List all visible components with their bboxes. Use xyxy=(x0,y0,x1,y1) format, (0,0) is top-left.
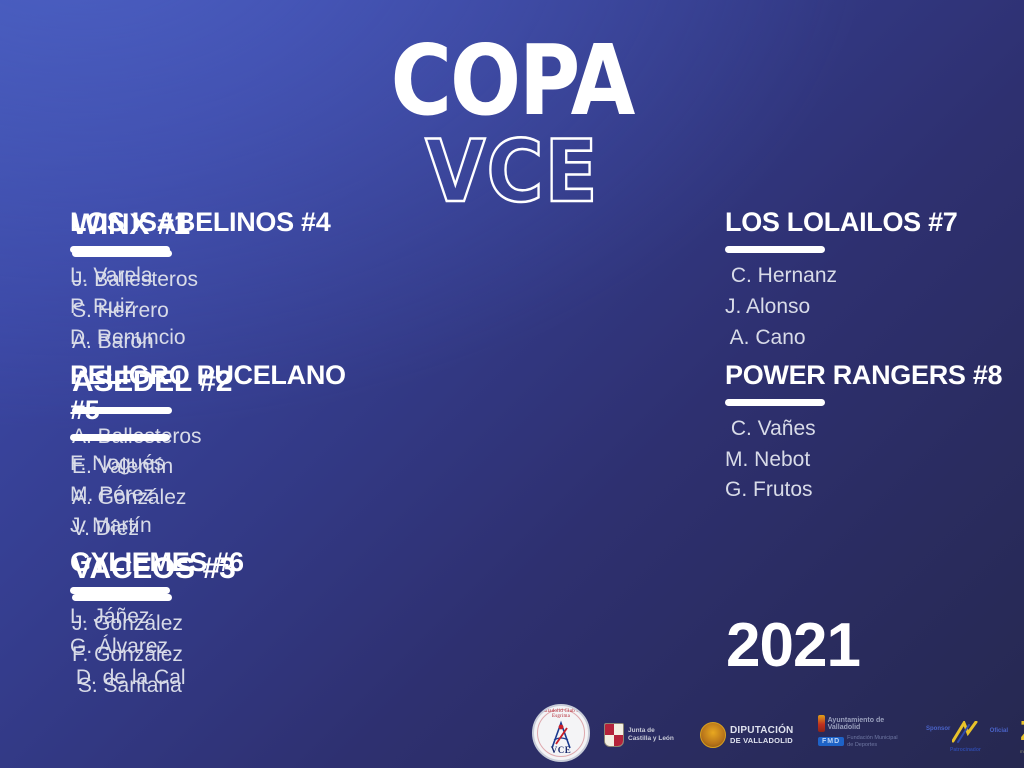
team-name: LOS ISABELINOS #4 xyxy=(70,205,370,240)
diputacion-line-1: DIPUTACIÓN xyxy=(730,725,793,736)
swoosh-icon xyxy=(952,721,978,743)
junta-castilla-leon-logo: Junta de Castilla y León xyxy=(604,715,690,755)
abstract-line-3: Patrocinador xyxy=(950,747,981,753)
team-underline-rule xyxy=(725,246,825,253)
torch-icon xyxy=(818,715,825,732)
sponsor-logo-strip: Valladolid Club de Esgrima VCE Junta de … xyxy=(532,702,1024,768)
player-name: L. Varela xyxy=(70,261,370,292)
page-title: COPA VCE xyxy=(0,34,1024,203)
player-name: G. Álvarez xyxy=(70,632,370,663)
diputacion-valladolid-logo: DIPUTACIÓN DE VALLADOLID xyxy=(700,715,808,755)
ayuntamiento-valladolid-logo: Ayuntamiento de Valladolid FMD Fundación… xyxy=(818,715,914,755)
abstract-line-1: Sponsor xyxy=(926,726,950,732)
player-name: C. Hernanz xyxy=(725,261,1015,292)
fmd-text: Fundación Municipal de Deportes xyxy=(847,735,897,748)
team-block: LOS LOLAILOS #7 C. Hernanz J. Alonso A. … xyxy=(725,205,1015,354)
player-name: D. Renuncio xyxy=(70,323,370,354)
player-name: G. Frutos xyxy=(725,475,1015,506)
title-word-copa: COPA xyxy=(0,34,1024,131)
team-underline-rule xyxy=(70,246,170,253)
player-name: L. Jáñez xyxy=(70,602,370,633)
team-name: GYLIEMES #6 xyxy=(70,545,370,580)
diputacion-line-2: DE VALLADOLID xyxy=(730,736,793,745)
column-2: LOS ISABELINOS #4 L. Varela P. Ruiz D. R… xyxy=(70,205,370,698)
team-underline-rule xyxy=(70,434,170,441)
diputacion-logo-text: DIPUTACIÓN DE VALLADOLID xyxy=(730,725,793,745)
player-name: P. Ruiz xyxy=(70,292,370,323)
player-name: J. Alonso xyxy=(725,292,1015,323)
crest-icon xyxy=(700,722,726,748)
ayuntamiento-bottom-row: FMD Fundación Municipal de Deportes xyxy=(818,735,914,748)
sponsor-abstract-logo: Sponsor Oficial Patrocinador xyxy=(924,715,1008,755)
vce-club-logo: Valladolid Club de Esgrima VCE xyxy=(532,704,594,766)
player-name: A. Cano xyxy=(725,323,1015,354)
fmd-badge: FMD xyxy=(818,737,844,746)
team-underline-rule xyxy=(725,399,825,406)
junta-line-1: Junta de xyxy=(628,727,674,735)
player-name: D. de la Cal xyxy=(70,663,370,694)
team-block: LOS ISABELINOS #4 L. Varela P. Ruiz D. R… xyxy=(70,205,370,354)
player-name: F. Nogués xyxy=(70,449,370,480)
player-name: M. Pérez xyxy=(70,480,370,511)
player-name: J. Martín xyxy=(70,511,370,542)
team-columns: WINX #1 J. Ballesteros S. Herrero A. Bar… xyxy=(0,205,1024,725)
heraldic-shield-icon xyxy=(604,723,624,747)
player-name: M. Nebot xyxy=(725,445,1015,476)
emblem-arc-text: Valladolid Club de Esgrima xyxy=(534,709,588,719)
zener-initial: Z xyxy=(1020,719,1024,745)
year-label: 2021 xyxy=(726,610,860,681)
team-name: POWER RANGERS #8 xyxy=(725,358,1015,393)
team-block: PELIGRO PUCELANO #5 F. Nogués M. Pérez J… xyxy=(70,358,370,542)
team-block: POWER RANGERS #8 C. Vañes M. Nebot G. Fr… xyxy=(725,358,1015,507)
junta-logo-text: Junta de Castilla y León xyxy=(628,727,674,743)
abstract-line-2: Oficial xyxy=(990,728,1008,734)
junta-line-2: Castilla y León xyxy=(628,735,674,743)
emblem-label: VCE xyxy=(534,745,588,755)
ayuntamiento-line-1: Ayuntamiento de Valladolid xyxy=(828,717,914,731)
team-underline-rule xyxy=(70,587,170,594)
player-name: C. Vañes xyxy=(725,414,1015,445)
team-name: PELIGRO PUCELANO #5 xyxy=(70,358,370,428)
team-block: GYLIEMES #6 L. Jáñez G. Álvarez D. de la… xyxy=(70,545,370,694)
circular-club-emblem-icon: Valladolid Club de Esgrima VCE xyxy=(532,704,590,762)
team-name: LOS LOLAILOS #7 xyxy=(725,205,1015,240)
fmd-line-2: de Deportes xyxy=(847,742,897,749)
zener-line-3: mantenimiento e instalación xyxy=(1020,749,1024,754)
column-3: LOS LOLAILOS #7 C. Hernanz J. Alonso A. … xyxy=(725,205,1015,510)
title-word-vce: VCE xyxy=(0,129,1024,215)
fmd-line-1: Fundación Municipal xyxy=(847,735,897,742)
ayuntamiento-top-row: Ayuntamiento de Valladolid xyxy=(818,715,914,732)
zener-ascensores-logo: Z ascensores. ENER mantenimiento e insta… xyxy=(1018,715,1024,755)
